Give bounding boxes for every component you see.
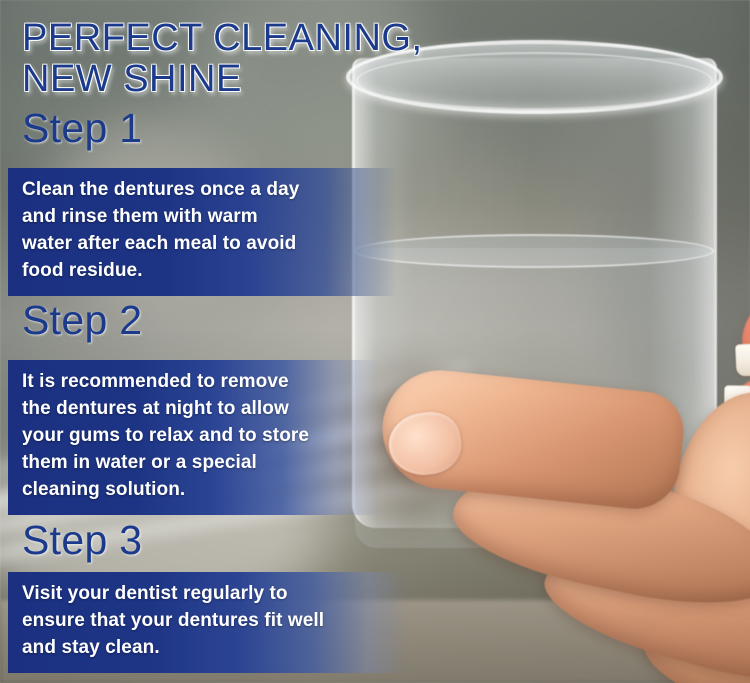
step-3-body: Visit your dentist regularly to ensure t…	[8, 572, 408, 673]
poster-root: PERFECT CLEANING, NEW SHINE Step 1 Clean…	[0, 0, 750, 683]
poster-headline: PERFECT CLEANING, NEW SHINE	[22, 18, 452, 100]
step-2-body: It is recommended to remove the dentures…	[8, 360, 380, 515]
step-1-body: Clean the dentures once a day and rinse …	[8, 168, 396, 296]
step-1-title: Step 1	[22, 108, 142, 149]
step-3-title: Step 3	[22, 520, 142, 561]
step-2-title: Step 2	[22, 300, 142, 341]
